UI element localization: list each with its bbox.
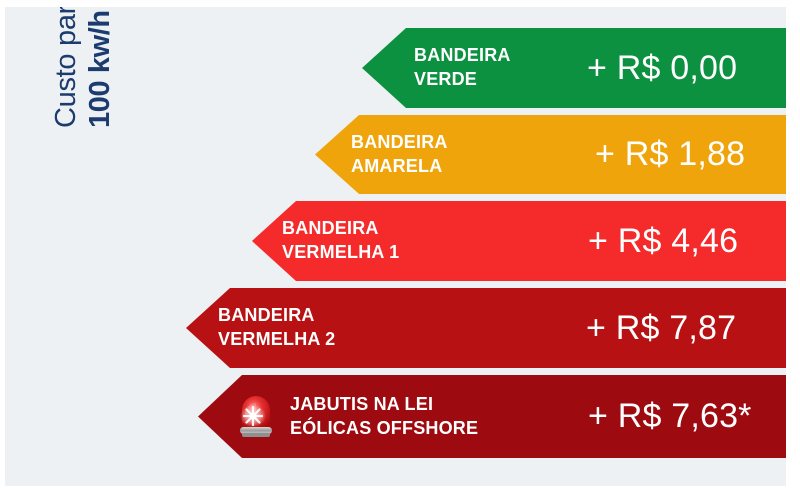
bar-value-bandeira-vermelha-1: + R$ 4,46	[588, 222, 738, 261]
bar-label-bandeira-vermelha-1: BANDEIRA VERMELHA 1	[282, 217, 399, 265]
bar-bandeira-vermelha-1: BANDEIRA VERMELHA 1 + R$ 4,46	[252, 201, 786, 281]
bar-value-bandeira-verde: + R$ 0,00	[587, 49, 737, 88]
bar-label-bandeira-verde: BANDEIRA VERDE	[414, 44, 511, 92]
infographic-canvas: Custo para cada 100 kw/h consumidos BAND…	[0, 0, 800, 489]
bar-jabutis-content: JABUTIS NA LEI EÓLICAS OFFSHORE	[236, 393, 478, 441]
rotating-light-icon	[236, 394, 276, 440]
bar-jabutis-na-lei: JABUTIS NA LEI EÓLICAS OFFSHORE + R$ 7,6…	[198, 375, 786, 458]
bar-value-jabutis-na-lei: + R$ 7,63*	[588, 397, 752, 436]
bar-bandeira-vermelha-2: BANDEIRA VERMELHA 2 + R$ 7,87	[186, 288, 786, 368]
caption-line-1: Custo para cada	[49, 0, 83, 128]
bar-value-bandeira-vermelha-2: + R$ 7,87	[586, 309, 736, 348]
page-edge-right	[786, 0, 800, 489]
bar-label-bandeira-vermelha-2: BANDEIRA VERMELHA 2	[218, 304, 335, 352]
page-edge-top	[0, 0, 800, 7]
bar-bandeira-verde: BANDEIRA VERDE + R$ 0,00	[362, 28, 786, 108]
vertical-axis-caption: Custo para cada 100 kw/h consumidos	[48, 0, 118, 128]
caption-line-2: 100 kw/h consumidos	[83, 0, 117, 128]
bar-label-bandeira-amarela: BANDEIRA AMARELA	[351, 131, 448, 179]
bar-bandeira-amarela: BANDEIRA AMARELA + R$ 1,88	[315, 115, 786, 194]
page-edge-left	[0, 0, 5, 489]
bar-value-bandeira-amarela: + R$ 1,88	[595, 135, 745, 174]
bar-label-jabutis-na-lei: JABUTIS NA LEI EÓLICAS OFFSHORE	[290, 393, 478, 441]
